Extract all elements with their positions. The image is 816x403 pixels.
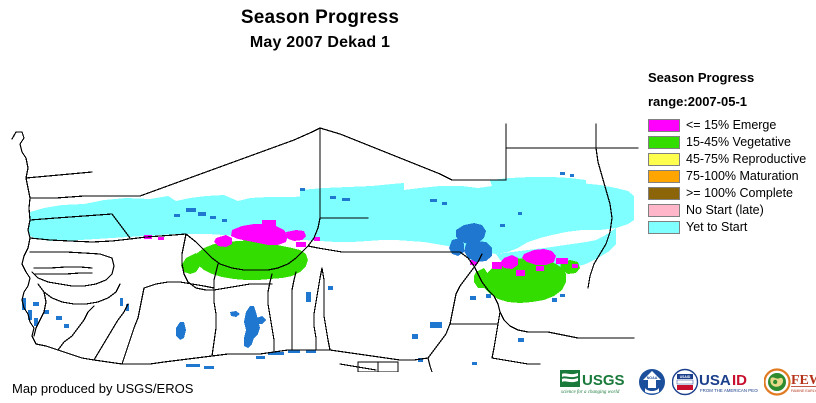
legend-item-reproductive[interactable]: 45-75% Reproductive [648, 151, 816, 167]
page-title: Season Progress [0, 6, 640, 30]
legend-item-yet-to-start[interactable]: Yet to Start [648, 219, 816, 235]
season-progress-map-page: Season Progress May 2007 Dekad 1 [0, 0, 816, 403]
svg-text:ID: ID [732, 372, 747, 389]
legend-swatch-reproductive [648, 153, 680, 166]
legend-label-reproductive: 45-75% Reproductive [686, 153, 806, 166]
legend-swatch-emerge [648, 119, 680, 132]
svg-text:NOAA: NOAA [647, 376, 658, 380]
svg-text:USGS: USGS [582, 372, 625, 389]
fewsnet-logo: FEWS NET FAMINE EARLY WARNING SYSTEMS NE… [764, 368, 816, 396]
legend-label-no-start: No Start (late) [686, 204, 764, 217]
legend-panel: Season Progress range:2007-05-1 <= 15% E… [648, 70, 816, 236]
legend-item-no-start[interactable]: No Start (late) [648, 202, 816, 218]
legend-swatch-vegetative [648, 136, 680, 149]
svg-text:USA: USA [699, 372, 731, 389]
noaa-logo: NOAA [638, 368, 666, 396]
map-credit: Map produced by USGS/EROS [12, 381, 193, 396]
legend-item-vegetative[interactable]: 15-45% Vegetative [648, 134, 816, 150]
legend-swatch-no-start [648, 204, 680, 217]
legend-swatch-maturation [648, 170, 680, 183]
legend-item-emerge[interactable]: <= 15% Emerge [648, 117, 816, 133]
region-vegetative-west [181, 236, 308, 280]
legend-item-maturation[interactable]: 75-100% Maturation [648, 168, 816, 184]
legend-label-yet-to-start: Yet to Start [686, 221, 747, 234]
usaid-logo: USAID USA ID FROM THE AMERICAN PEOPLE [672, 368, 758, 396]
map-canvas[interactable] [0, 62, 640, 372]
legend-item-complete[interactable]: >= 100% Complete [648, 185, 816, 201]
legend-label-emerge: <= 15% Emerge [686, 119, 776, 132]
title-block: Season Progress May 2007 Dekad 1 [0, 6, 640, 54]
svg-text:FAMINE EARLY WARNING SYSTEMS N: FAMINE EARLY WARNING SYSTEMS NETWORK [791, 389, 816, 393]
svg-text:science for a changing world: science for a changing world [561, 390, 620, 395]
logo-strip: USGS science for a changing world NOAA U… [560, 364, 812, 400]
legend-label-maturation: 75-100% Maturation [686, 170, 799, 183]
legend-label-complete: >= 100% Complete [686, 187, 793, 200]
legend-swatch-yet-to-start [648, 221, 680, 234]
legend-label-vegetative: 15-45% Vegetative [686, 136, 791, 149]
page-subtitle: May 2007 Dekad 1 [0, 32, 640, 54]
legend-title: Season Progress [648, 70, 816, 85]
svg-text:FROM THE AMERICAN PEOPLE: FROM THE AMERICAN PEOPLE [700, 388, 758, 393]
usgs-logo: USGS science for a changing world [560, 369, 632, 395]
legend-swatch-complete [648, 187, 680, 200]
legend-range: range:2007-05-1 [648, 94, 816, 109]
svg-text:USAID: USAID [680, 375, 691, 379]
svg-text:FEWS NET: FEWS NET [791, 373, 816, 388]
